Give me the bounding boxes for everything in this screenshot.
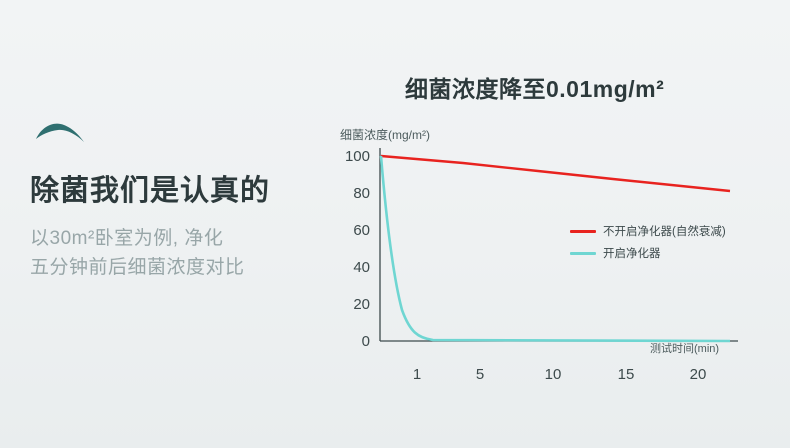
x-tick-5: 5 xyxy=(465,366,495,383)
page-subtitle: 以30m²卧室为例, 净化 五分钟前后细菌浓度对比 xyxy=(30,225,330,282)
chart-title: 细菌浓度降至0.01mg/m² xyxy=(405,70,664,104)
chart-container: 细菌浓度(mg/m²) 测试时间(min) 100 80 60 40 20 0 … xyxy=(338,126,778,396)
legend-swatch-natural-decay xyxy=(570,230,596,233)
page-title: 除菌我们是认真的 xyxy=(30,173,330,209)
chart-legend: 不开启净化器(自然衰减) 开启净化器 xyxy=(570,222,726,266)
x-tick-10: 10 xyxy=(538,366,568,383)
legend-label-purifier-on: 开启净化器 xyxy=(603,245,661,261)
subtitle-line-2: 五分钟前后细菌浓度对比 xyxy=(30,254,330,283)
x-tick-20: 20 xyxy=(683,366,713,383)
promo-page: 除菌我们是认真的 以30m²卧室为例, 净化 五分钟前后细菌浓度对比 细菌浓度降… xyxy=(0,0,790,448)
legend-item-purifier-on: 开启净化器 xyxy=(570,244,726,262)
legend-label-natural-decay: 不开启净化器(自然衰减) xyxy=(603,223,726,239)
left-text-block: 除菌我们是认真的 以30m²卧室为例, 净化 五分钟前后细菌浓度对比 xyxy=(30,120,330,282)
swoosh-logo-icon xyxy=(34,120,86,146)
series-line-natural-decay xyxy=(381,156,730,191)
legend-swatch-purifier-on xyxy=(570,252,596,255)
legend-item-natural-decay: 不开启净化器(自然衰减) xyxy=(570,222,726,240)
subtitle-line-1: 以30m²卧室为例, 净化 xyxy=(30,225,330,254)
x-tick-1: 1 xyxy=(402,366,432,383)
x-tick-15: 15 xyxy=(611,366,641,383)
